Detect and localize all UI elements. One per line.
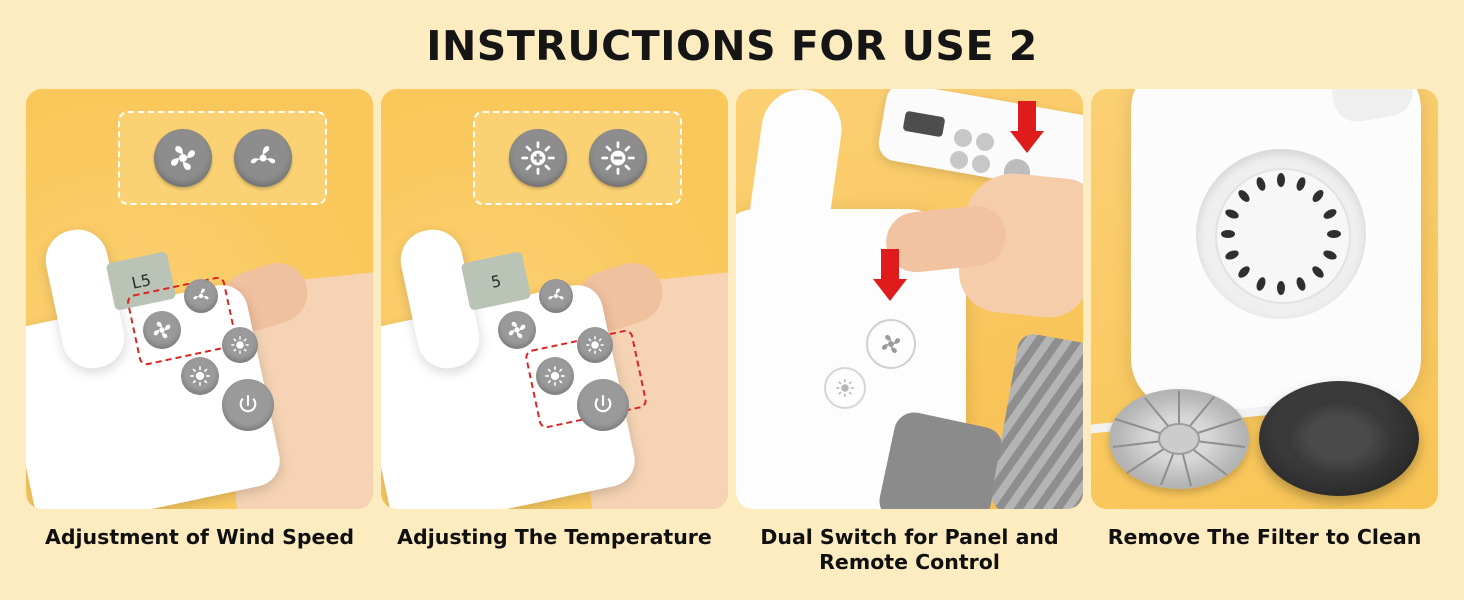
panel-remove-filter: Remove The Filter to Clean	[1091, 89, 1438, 550]
device-sun-button[interactable]	[181, 357, 219, 395]
device-propeller-button[interactable]	[539, 279, 573, 313]
caption-dual-switch: Dual Switch for Panel and Remote Control	[760, 525, 1058, 575]
photo-wind-speed: L5	[26, 89, 373, 509]
device-fan-button[interactable]	[498, 311, 536, 349]
carbon-filter-inner	[1287, 401, 1391, 475]
page-title: INSTRUCTIONS FOR USE 2	[0, 0, 1464, 67]
panel-sun-button[interactable]	[824, 367, 866, 409]
panel-fan-button[interactable]	[866, 319, 916, 369]
display-value: 5	[489, 271, 502, 292]
callout-wind-buttons	[118, 111, 327, 205]
caption-line-1: Dual Switch for Panel and	[760, 525, 1058, 550]
photo-temperature: 5	[381, 89, 728, 509]
device-fan-button[interactable]	[143, 311, 181, 349]
device-power-button[interactable]	[577, 379, 629, 431]
device-sun-plus-button[interactable]	[577, 327, 613, 363]
panel-wind-speed: L5 Adjustment of Wind Spee	[26, 89, 373, 550]
device-propeller-button[interactable]	[184, 279, 218, 313]
panel-row: L5 Adjustment of Wind Spee	[0, 89, 1464, 575]
device-sun-button[interactable]	[536, 357, 574, 395]
device-power-button[interactable]	[222, 379, 274, 431]
propeller-icon	[234, 129, 292, 187]
sun-minus-icon	[589, 129, 647, 187]
display-value: L5	[130, 270, 153, 293]
caption-temperature: Adjusting The Temperature	[397, 525, 712, 550]
panel-temperature: 5 Adjusting The Temperature	[381, 89, 728, 550]
grille-spokes-icon	[1109, 389, 1249, 489]
caption-line-2: Remote Control	[760, 550, 1058, 575]
callout-temperature-buttons	[473, 111, 682, 205]
caption-remove-filter: Remove The Filter to Clean	[1108, 525, 1422, 550]
photo-remove-filter	[1091, 89, 1438, 509]
caption-wind-speed: Adjustment of Wind Speed	[45, 525, 354, 550]
photo-dual-switch	[736, 89, 1083, 509]
vent-holes-icon	[1215, 168, 1347, 300]
panel-dual-switch: Dual Switch for Panel and Remote Control	[736, 89, 1083, 575]
device-sun-plus-button[interactable]	[222, 327, 258, 363]
sun-plus-icon	[509, 129, 567, 187]
fan-icon	[154, 129, 212, 187]
